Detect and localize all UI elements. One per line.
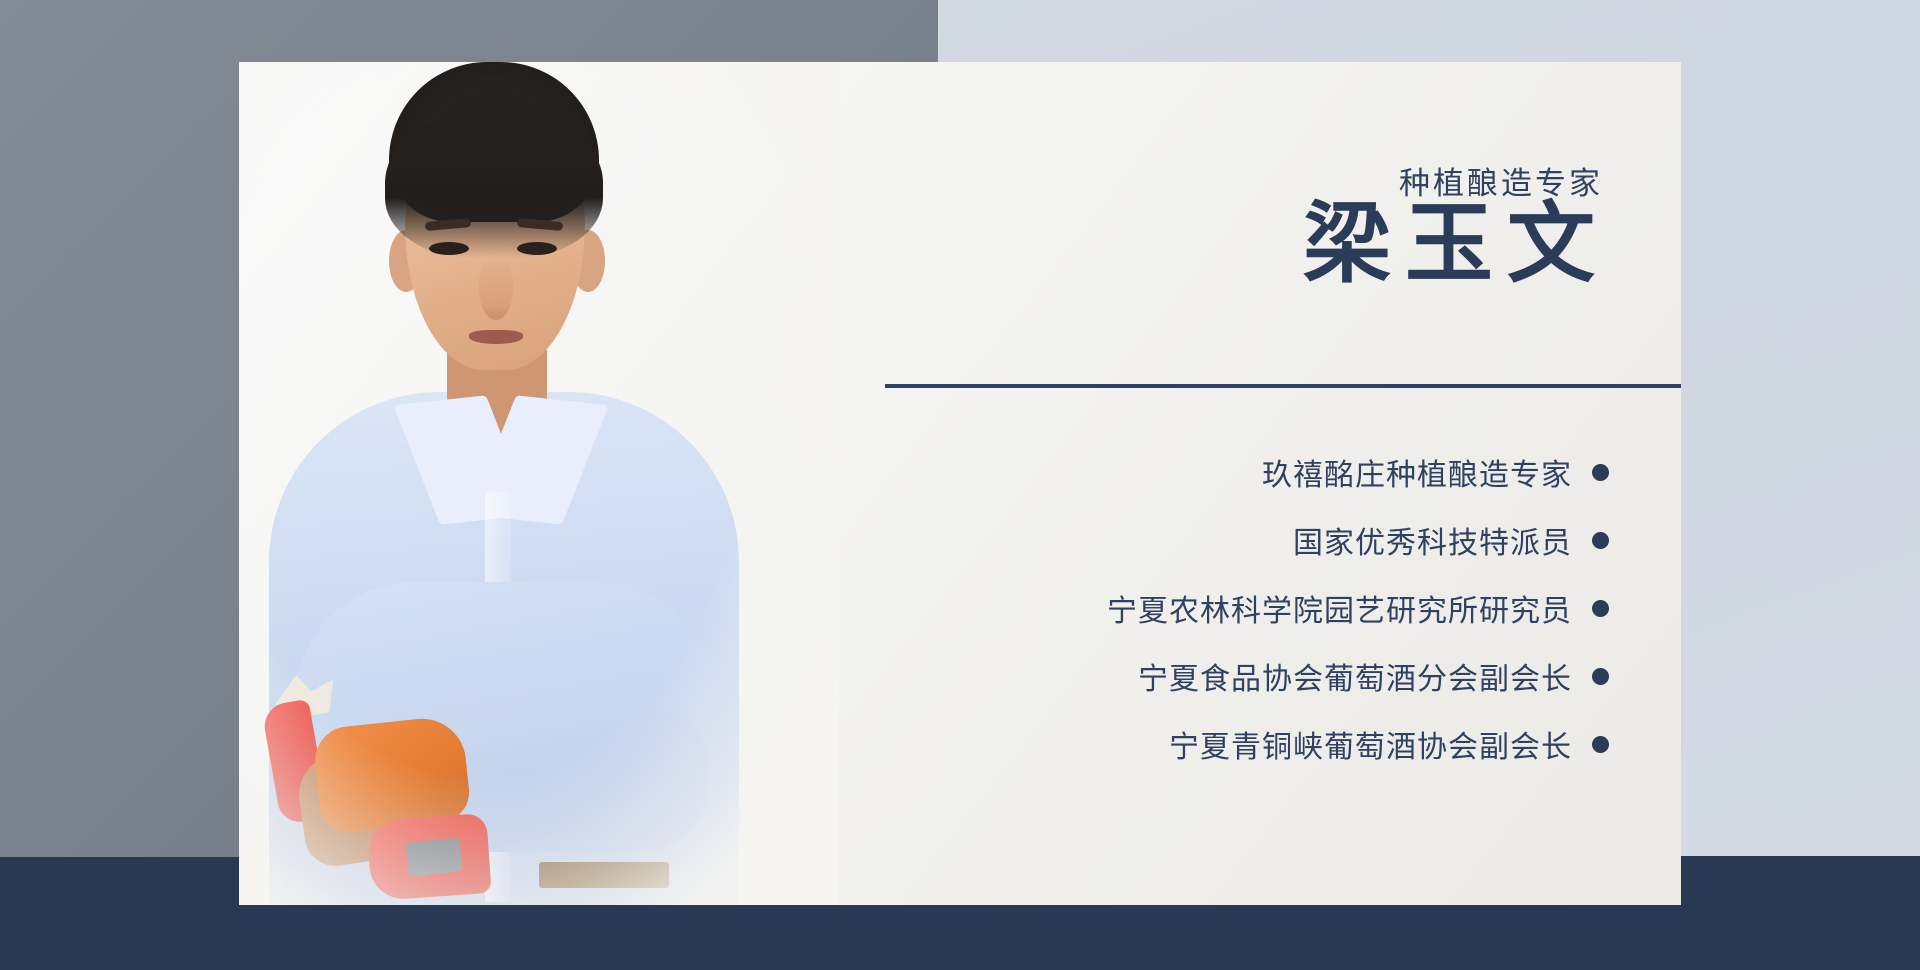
credential-label: 宁夏食品协会葡萄酒分会副会长 bbox=[1138, 654, 1572, 698]
list-item: 宁夏农林科学院园艺研究所研究员 bbox=[1107, 586, 1609, 630]
tool-label-shape bbox=[405, 837, 462, 876]
profile-text-column: 种植酿造专家 梁玉文 玖禧酩庄种植酿造专家 国家优秀科技特派员 宁夏农林科学院园… bbox=[839, 62, 1681, 905]
poster-stage: 种植酿造专家 梁玉文 玖禧酩庄种植酿造专家 国家优秀科技特派员 宁夏农林科学院园… bbox=[0, 0, 1920, 970]
bullet-dot-icon bbox=[1592, 600, 1609, 617]
list-item: 宁夏食品协会葡萄酒分会副会长 bbox=[1138, 654, 1609, 698]
portrait-photo bbox=[239, 62, 839, 905]
hair-fringe-shape bbox=[385, 108, 603, 258]
horizontal-divider bbox=[885, 384, 1681, 388]
profile-name: 梁玉文 bbox=[1289, 202, 1609, 290]
bullet-dot-icon bbox=[1592, 668, 1609, 685]
eye-right-shape bbox=[517, 242, 557, 255]
eye-left-shape bbox=[429, 242, 469, 255]
list-item: 玖禧酩庄种植酿造专家 bbox=[1262, 450, 1609, 494]
nose-shape bbox=[479, 258, 513, 320]
credential-label: 宁夏青铜峡葡萄酒协会副会长 bbox=[1169, 722, 1572, 766]
list-item: 国家优秀科技特派员 bbox=[1293, 518, 1609, 562]
bullet-dot-icon bbox=[1592, 464, 1609, 481]
belt-shape bbox=[539, 862, 669, 888]
credential-label: 宁夏农林科学院园艺研究所研究员 bbox=[1107, 586, 1572, 630]
credential-label: 国家优秀科技特派员 bbox=[1293, 518, 1572, 562]
bullet-dot-icon bbox=[1592, 532, 1609, 549]
background-navy-bottom-band bbox=[0, 903, 1920, 970]
credentials-list: 玖禧酩庄种植酿造专家 国家优秀科技特派员 宁夏农林科学院园艺研究所研究员 宁夏食… bbox=[1107, 450, 1609, 766]
list-item: 宁夏青铜峡葡萄酒协会副会长 bbox=[1169, 722, 1609, 766]
credential-label: 玖禧酩庄种植酿造专家 bbox=[1262, 450, 1572, 494]
bullet-dot-icon bbox=[1592, 736, 1609, 753]
profile-card: 种植酿造专家 梁玉文 玖禧酩庄种植酿造专家 国家优秀科技特派员 宁夏农林科学院园… bbox=[239, 62, 1681, 905]
mouth-shape bbox=[469, 330, 523, 344]
